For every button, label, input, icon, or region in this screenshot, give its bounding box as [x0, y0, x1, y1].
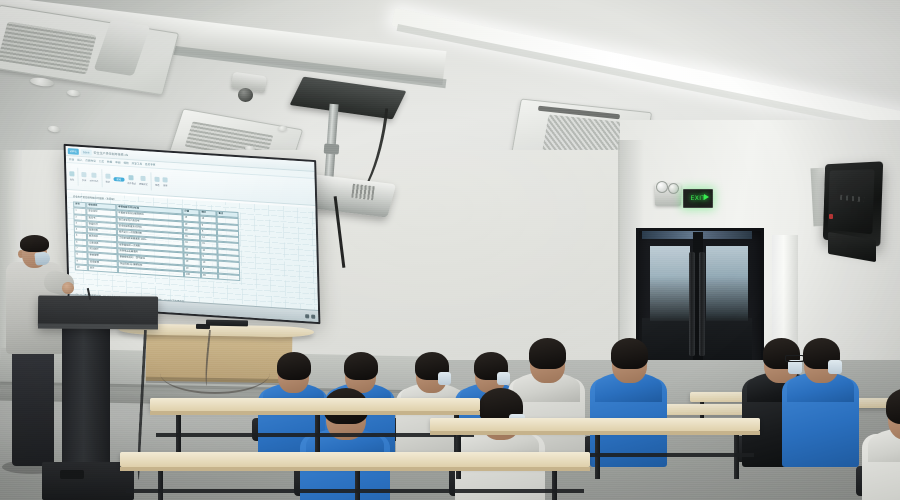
attendee-hair [344, 352, 378, 380]
desk-leg [552, 469, 557, 500]
classroom-scene: WPS Save 安全生产责任制考核表.xls 开始 插入 页面布局 公式 数据… [0, 0, 900, 500]
classroom-desk [120, 452, 590, 467]
classroom-desk [430, 418, 760, 431]
attendee-hair [886, 388, 900, 424]
classroom-desk [150, 398, 480, 411]
attendee-blue-5 [782, 338, 859, 467]
attendee-face-mask [438, 372, 450, 384]
desk-edge [120, 467, 590, 471]
attendee-face-mask [828, 360, 842, 374]
desk-rail [156, 433, 474, 437]
desk-leg [158, 469, 163, 500]
attendee-blue-4 [590, 338, 667, 467]
desk-edge [430, 431, 760, 435]
desk-leg [355, 469, 360, 500]
attendee-hair [277, 352, 311, 380]
audience-area [0, 0, 900, 500]
desk-edge [150, 411, 480, 415]
desk-rail [126, 489, 584, 493]
attendee-grey-4 [862, 388, 900, 500]
attendee-hair [529, 338, 567, 369]
attendee-hair [611, 338, 649, 369]
